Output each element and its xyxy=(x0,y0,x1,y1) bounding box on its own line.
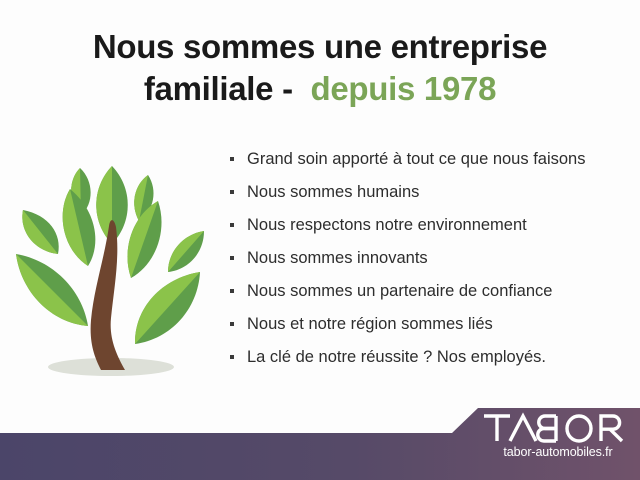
list-item: Grand soin apporté à tout ce que nous fa… xyxy=(228,148,628,170)
brand-tagline: tabor-automobiles.fr xyxy=(476,445,640,459)
bullet-point-icon xyxy=(230,256,234,260)
slide-canvas: Nous sommes une entreprise familiale - d… xyxy=(0,0,640,480)
bullet-point-icon xyxy=(230,289,234,293)
list-item-label: Nous sommes humains xyxy=(247,183,419,201)
list-item-label: Nous et notre région sommes liés xyxy=(247,315,493,333)
list-item: Nous sommes un partenaire de confiance xyxy=(228,280,628,302)
bullet-point-icon xyxy=(230,223,234,227)
leaf-bottom-left xyxy=(16,254,88,326)
page-title-line-1: Nous sommes une entreprise xyxy=(0,26,640,68)
tree-illustration xyxy=(8,148,218,393)
leaf-far-right-upper xyxy=(168,231,204,272)
list-item: Nous et notre région sommes liés xyxy=(228,313,628,335)
list-item-label: Nous sommes un partenaire de confiance xyxy=(247,282,552,300)
page-title: Nous sommes une entreprise familiale - d… xyxy=(0,26,640,110)
list-item: Nous respectons notre environnement xyxy=(228,214,628,236)
list-item-label: La clé de notre réussite ? Nos employés. xyxy=(247,348,546,366)
list-item: Nous sommes humains xyxy=(228,181,628,203)
tabor-wordmark-icon xyxy=(482,412,634,444)
page-title-line-2: familiale - depuis 1978 xyxy=(0,68,640,110)
brand-logo[interactable]: tabor-automobiles.fr xyxy=(476,412,640,472)
bullet-point-icon xyxy=(230,157,234,161)
bullet-point-icon xyxy=(230,355,234,359)
list-item: Nous sommes innovants xyxy=(228,247,628,269)
bullet-point-icon xyxy=(230,322,234,326)
page-title-since-year: depuis 1978 xyxy=(311,70,497,107)
leaf-mid-right xyxy=(127,201,161,278)
list-item-label: Nous sommes innovants xyxy=(247,249,428,267)
benefits-list: Grand soin apporté à tout ce que nous fa… xyxy=(228,148,628,379)
list-item-label: Grand soin apporté à tout ce que nous fa… xyxy=(247,150,585,168)
tree-trunk xyxy=(91,220,125,370)
bullet-point-icon xyxy=(230,190,234,194)
leaf-bottom-right xyxy=(135,272,200,344)
list-item: La clé de notre réussite ? Nos employés. xyxy=(228,346,628,368)
leaf-mid-left xyxy=(63,189,96,266)
list-item-label: Nous respectons notre environnement xyxy=(247,216,527,234)
page-title-line-2-plain: familiale - xyxy=(144,70,311,107)
leaf-far-left-upper xyxy=(22,210,58,254)
